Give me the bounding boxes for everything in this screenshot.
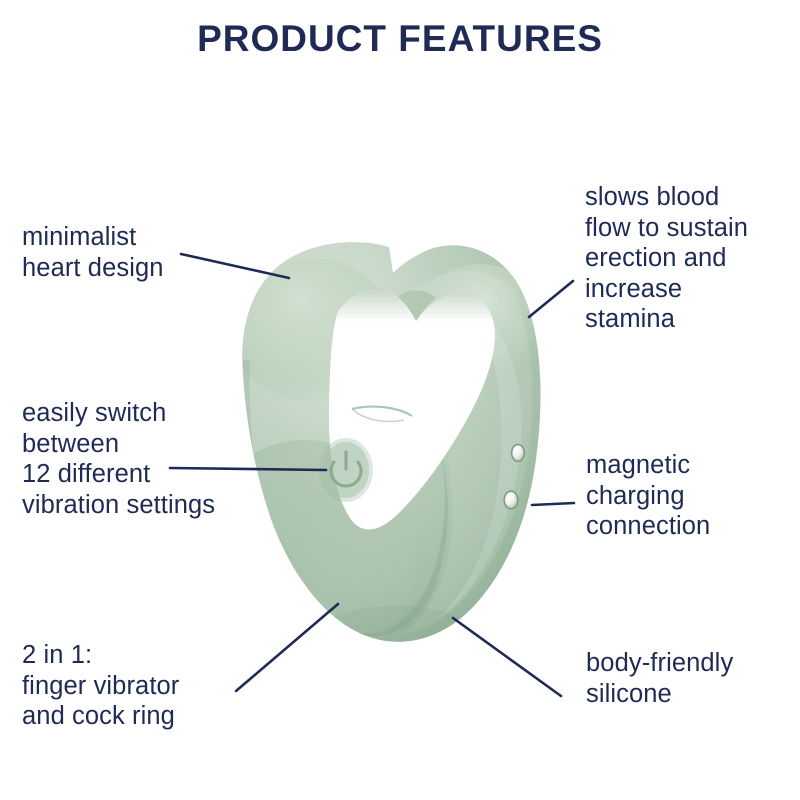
- callout-body-friendly-silicone: body-friendly silicone: [586, 648, 800, 709]
- callout-vibration-settings: easily switch between 12 different vibra…: [22, 398, 292, 520]
- callout-minimalist-heart-design: minimalist heart design: [22, 222, 282, 283]
- product-features-infographic: PRODUCT FEATURES: [0, 0, 800, 800]
- leader-line-slows-blood-flow: [529, 281, 573, 317]
- charging-pin-lower: [503, 490, 518, 509]
- leader-line-magnetic-charging: [532, 503, 574, 505]
- leader-line-body-friendly-silicone: [453, 618, 561, 696]
- callout-magnetic-charging: magnetic charging connection: [586, 450, 796, 542]
- charging-pin-upper: [511, 444, 525, 462]
- callout-two-in-one: 2 in 1: finger vibrator and cock ring: [22, 640, 302, 732]
- callout-slows-blood-flow: slows blood flow to sustain erection and…: [585, 182, 800, 335]
